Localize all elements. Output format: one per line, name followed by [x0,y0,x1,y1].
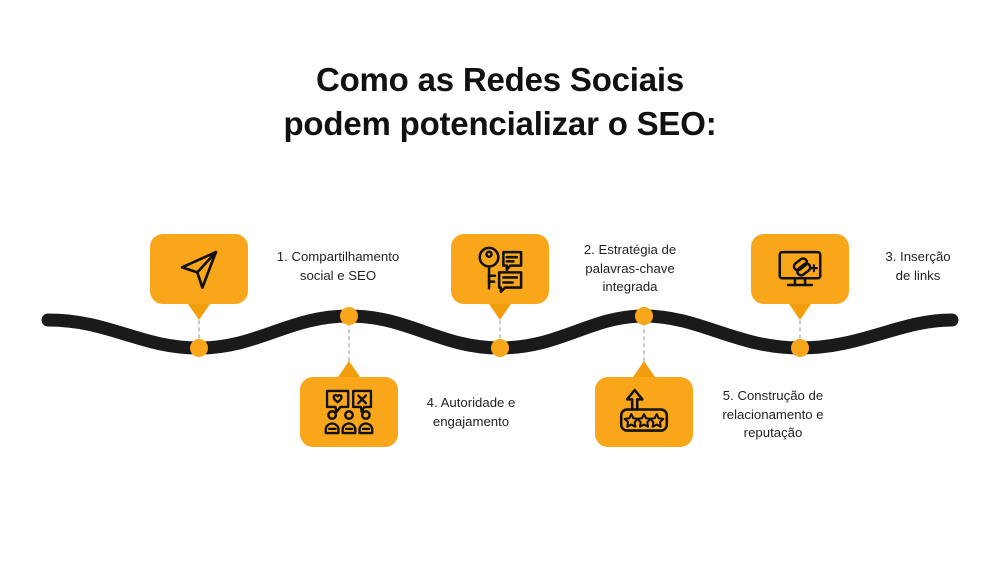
stars-rating-icon [617,385,671,439]
monitor-link-icon [773,242,827,296]
step-4-card-tail [338,361,360,377]
step-2-card-tail [489,304,511,320]
step-3-card-tail [789,304,811,320]
infographic-canvas: Como as Redes Sociais podem potencializa… [0,0,1000,562]
step-1-card-tail [188,304,210,320]
wave-node-1 [190,339,208,357]
step-1-label: 1. Compartilhamento social e SEO [258,248,418,285]
step-5-card-tail [633,361,655,377]
wave-node-2 [491,339,509,357]
wave-node-3 [791,339,809,357]
step-4-card[interactable] [300,377,398,447]
wave-node-4 [340,307,358,325]
step-2-card[interactable] [451,234,549,304]
step-3-label: 3. Inserção de links [858,248,978,285]
wave-node-5 [635,307,653,325]
page-title-line-1: Como as Redes Sociais [0,58,1000,102]
step-1-card[interactable] [150,234,248,304]
paper-plane-icon [172,242,226,296]
step-5-label: 5. Construção de relacionamento e reputa… [697,387,849,443]
key-document-icon [473,242,527,296]
engagement-people-icon [322,385,376,439]
step-4-label: 4. Autoridade e engajamento [405,394,537,431]
wave-path [48,316,952,348]
step-3-card[interactable] [751,234,849,304]
page-title: Como as Redes Sociais podem potencializa… [0,58,1000,145]
step-2-label: 2. Estratégia de palavras-chave integrad… [560,241,700,297]
page-title-line-2: podem potencializar o SEO: [0,102,1000,146]
step-5-card[interactable] [595,377,693,447]
